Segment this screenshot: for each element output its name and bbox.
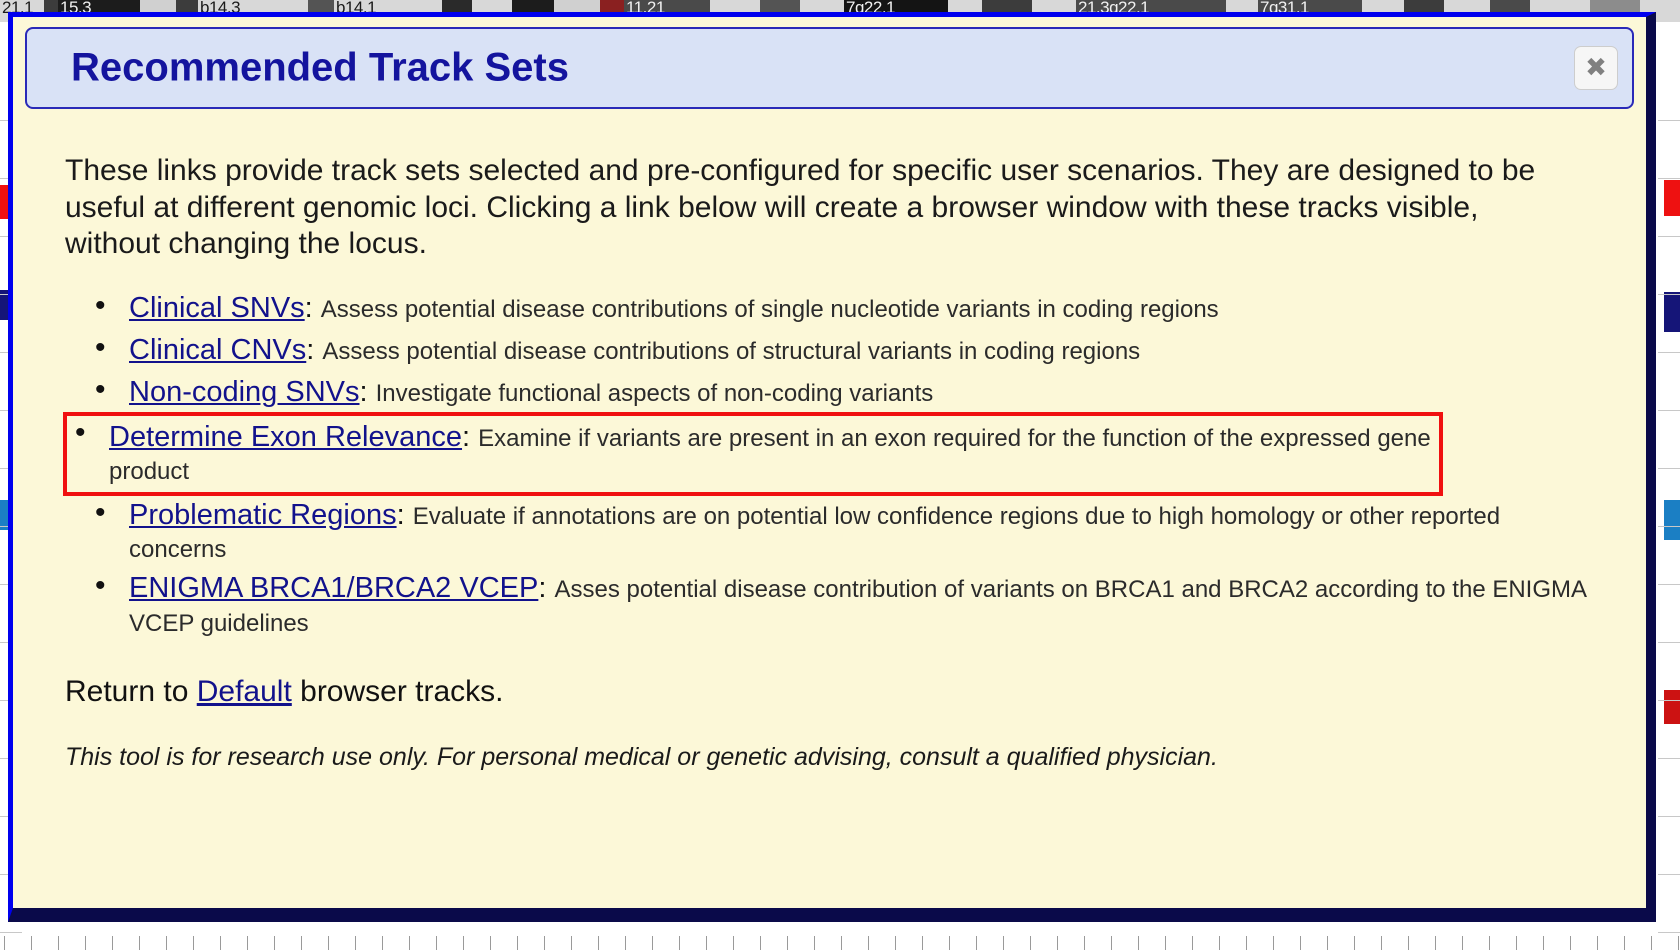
ruler-tick	[1516, 936, 1517, 950]
track-set-link[interactable]: Clinical SNVs	[129, 292, 305, 324]
ruler-tick	[1246, 936, 1247, 950]
ruler-tick	[4, 936, 5, 950]
default-tracks-link[interactable]: Default	[197, 675, 292, 708]
ruler-tick	[193, 936, 194, 950]
track-feature-block	[1664, 690, 1680, 724]
track-guide-line	[1658, 178, 1680, 179]
ruler-tick	[1435, 936, 1436, 950]
ruler-tick	[139, 936, 140, 950]
ruler-tick	[544, 936, 545, 950]
track-set-link[interactable]: Problematic Regions	[129, 499, 397, 531]
ruler-tick	[1597, 936, 1598, 950]
track-set-separator: :	[397, 499, 413, 531]
track-set-item: Clinical CNVs: Assess potential disease …	[87, 331, 1594, 369]
ruler-tick	[85, 936, 86, 950]
track-guide-line	[1658, 294, 1680, 295]
ruler-tick	[787, 936, 788, 950]
close-glyph: ✖	[1585, 55, 1607, 81]
ruler-tick	[760, 936, 761, 950]
track-guide-line	[1658, 584, 1680, 585]
track-set-description: Investigate functional aspects of non-co…	[376, 380, 934, 407]
ruler-tick	[1219, 936, 1220, 950]
return-default-line: Return to Default browser tracks.	[65, 675, 1594, 709]
ruler-tick	[1327, 936, 1328, 950]
ruler-ticks	[0, 924, 1680, 950]
ruler-tick	[1489, 936, 1490, 950]
track-guide-line	[1658, 410, 1680, 411]
track-guide-line	[1658, 468, 1680, 469]
ruler-tick	[355, 936, 356, 950]
ruler-tick	[733, 936, 734, 950]
track-set-item: ENIGMA BRCA1/BRCA2 VCEP: Asses potential…	[87, 569, 1594, 639]
ruler-tick	[1030, 936, 1031, 950]
ruler-tick	[976, 936, 977, 950]
track-set-link[interactable]: ENIGMA BRCA1/BRCA2 VCEP	[129, 572, 538, 604]
ruler-tick	[625, 936, 626, 950]
ruler-tick	[1057, 936, 1058, 950]
track-set-list: Clinical SNVs: Assess potential disease …	[87, 289, 1594, 640]
return-prefix: Return to	[65, 675, 197, 708]
track-set-item: Non-coding SNVs: Investigate functional …	[87, 373, 1594, 411]
track-guide-line	[1658, 758, 1680, 759]
track-set-description: Assess potential disease contributions o…	[321, 296, 1219, 323]
ruler-tick	[679, 936, 680, 950]
ruler-tick	[409, 936, 410, 950]
ruler-tick	[1354, 936, 1355, 950]
track-guide-line	[1658, 932, 1680, 933]
track-guide-line	[1658, 526, 1680, 527]
ruler-tick	[922, 936, 923, 950]
ruler-tick	[895, 936, 896, 950]
track-set-separator: :	[305, 292, 321, 324]
ruler-tick	[1570, 936, 1571, 950]
ruler-tick	[166, 936, 167, 950]
ruler-tick	[706, 936, 707, 950]
ruler-tick	[1624, 936, 1625, 950]
ruler-tick	[1651, 936, 1652, 950]
track-guide-line	[1658, 816, 1680, 817]
ruler-tick	[247, 936, 248, 950]
ruler-tick	[949, 936, 950, 950]
intro-paragraph: These links provide track sets selected …	[65, 153, 1555, 263]
ruler-tick	[517, 936, 518, 950]
ruler-tick	[382, 936, 383, 950]
track-set-item: Problematic Regions: Evaluate if annotat…	[87, 496, 1594, 566]
ruler-tick	[1192, 936, 1193, 950]
ruler-tick	[1462, 936, 1463, 950]
track-set-separator: :	[462, 421, 478, 453]
ruler-tick	[571, 936, 572, 950]
dialog-header: Recommended Track Sets ✖	[25, 27, 1634, 109]
track-set-separator: :	[306, 334, 322, 366]
ruler-tick	[1408, 936, 1409, 950]
ruler-tick	[652, 936, 653, 950]
ruler-tick	[328, 936, 329, 950]
recommended-track-sets-dialog: Recommended Track Sets ✖ These links pro…	[8, 12, 1656, 922]
track-guide-line	[1658, 642, 1680, 643]
ruler-tick	[1300, 936, 1301, 950]
ruler-tick	[841, 936, 842, 950]
ruler-tick	[301, 936, 302, 950]
track-guide-line	[0, 932, 22, 933]
ruler-tick	[1543, 936, 1544, 950]
track-set-link[interactable]: Clinical CNVs	[129, 334, 306, 366]
track-set-separator: :	[538, 572, 554, 604]
ruler-tick	[490, 936, 491, 950]
ruler-tick	[463, 936, 464, 950]
ruler-tick	[598, 936, 599, 950]
ruler-tick	[220, 936, 221, 950]
ruler-tick	[1678, 936, 1679, 950]
dialog-body: These links provide track sets selected …	[13, 113, 1646, 772]
ruler-tick	[112, 936, 113, 950]
ruler-tick	[1273, 936, 1274, 950]
dialog-title: Recommended Track Sets	[71, 46, 569, 91]
track-set-link[interactable]: Determine Exon Relevance	[109, 421, 462, 453]
track-feature-block	[1664, 180, 1680, 216]
ruler-tick	[1003, 936, 1004, 950]
ruler-tick	[274, 936, 275, 950]
ruler-tick	[868, 936, 869, 950]
ruler-tick	[1138, 936, 1139, 950]
track-feature-block	[1664, 292, 1680, 332]
track-set-link[interactable]: Non-coding SNVs	[129, 376, 360, 408]
disclaimer-text: This tool is for research use only. For …	[65, 743, 1594, 772]
ruler-tick	[1111, 936, 1112, 950]
track-guide-line	[1658, 236, 1680, 237]
ruler-tick	[1381, 936, 1382, 950]
ruler-tick	[1165, 936, 1166, 950]
return-suffix: browser tracks.	[292, 675, 504, 708]
track-guide-line	[1658, 874, 1680, 875]
close-icon[interactable]: ✖	[1574, 46, 1618, 90]
track-set-item: Determine Exon Relevance: Examine if var…	[67, 416, 1439, 492]
track-guide-line	[1658, 700, 1680, 701]
ruler-tick	[31, 936, 32, 950]
ruler-tick	[58, 936, 59, 950]
track-guide-line	[1658, 352, 1680, 353]
track-set-item: Clinical SNVs: Assess potential disease …	[87, 289, 1594, 327]
track-set-separator: :	[360, 376, 376, 408]
ruler-tick	[814, 936, 815, 950]
track-set-description: Assess potential disease contributions o…	[322, 338, 1140, 365]
ruler-tick	[436, 936, 437, 950]
track-feature-block	[1664, 500, 1680, 540]
track-guide-line	[1658, 120, 1680, 121]
ruler-tick	[1084, 936, 1085, 950]
